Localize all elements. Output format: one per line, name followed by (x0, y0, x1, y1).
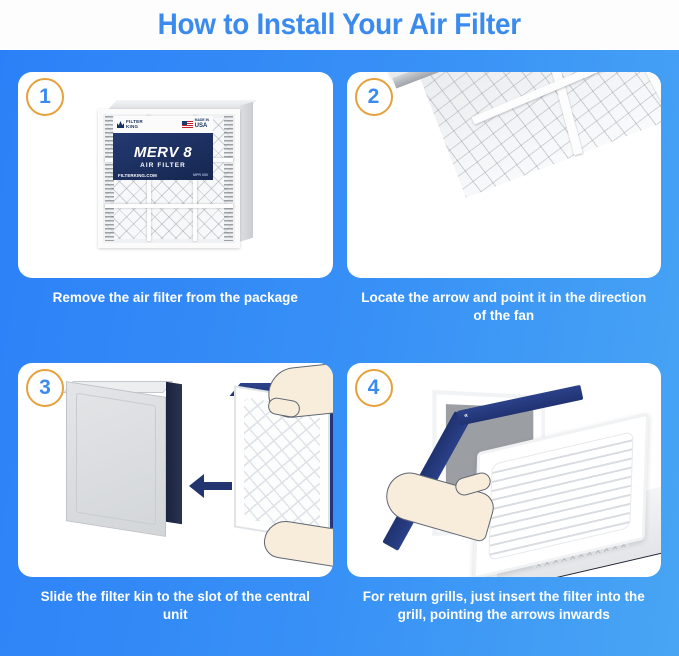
step-1-caption: Remove the air filter from the package (18, 278, 333, 307)
label-footer-strip: FILTERKING.COM MPR 650 (113, 173, 213, 178)
brand-name: FILTER KING (126, 120, 143, 130)
brand-line-2: KING (126, 125, 143, 130)
page-title: How to Install Your Air Filter (158, 8, 521, 42)
hand-lower (262, 518, 333, 570)
step-1-image-card: 1 (18, 72, 333, 278)
step-4-caption: For return grills, just insert the filte… (347, 577, 662, 624)
product-type-text: AIR FILTER (140, 162, 186, 169)
label-main-panel: MERV 8 AIR FILTER FILTERKING.COM MPR 650 (113, 133, 213, 180)
label-header-strip: FILTER KING MADE IN USA (113, 116, 213, 133)
merv8-filter-photo: FILTER KING MADE IN USA (98, 100, 253, 248)
step-2-number-badge: 2 (355, 78, 393, 116)
filter-front-face: FILTER KING MADE IN USA (98, 109, 240, 248)
website-text: FILTERKING.COM (118, 173, 157, 178)
step-1-artwork: FILTER KING MADE IN USA (18, 72, 333, 278)
step-card-1: 1 (18, 72, 333, 357)
infographic-root: How to Install Your Air Filter 1 (0, 0, 679, 656)
unit-inner-border (76, 393, 156, 526)
step-card-3: 3 (18, 363, 333, 648)
step-3-caption: Slide the filter kin to the slot of the … (18, 577, 333, 624)
step-2-image-card: 2 Ai (347, 72, 662, 278)
step-2-artwork: Air Filter AIRFLOW (347, 72, 662, 278)
filter-king-logo: FILTER KING (117, 120, 143, 130)
filter-corner-photo: Air Filter AIRFLOW (347, 72, 662, 278)
filter-side-bevel (239, 102, 253, 242)
filter-pleats-right (224, 116, 233, 241)
step-card-4: 4 « (347, 363, 662, 648)
header-band: How to Install Your Air Filter (0, 0, 679, 50)
mpr-rating-text: MPR 650 (193, 173, 208, 178)
step-card-2: 2 Ai (347, 72, 662, 357)
step-3-artwork (18, 363, 333, 577)
merv-rating: MERV 8 (134, 145, 192, 160)
arrow-marks: « (463, 412, 468, 420)
filter-rib-h2 (105, 204, 233, 208)
filter-mesh (244, 397, 320, 531)
crown-icon (117, 121, 124, 128)
steps-grid: 1 (0, 50, 679, 656)
step-1-number-badge: 1 (26, 78, 64, 116)
unit-front-face (66, 381, 166, 537)
unit-slot-opening (166, 382, 182, 525)
usa-flag-icon (182, 121, 193, 129)
step-2-caption: Locate the arrow and point it in the dir… (347, 278, 662, 325)
made-in-usa-mark: MADE IN USA (182, 119, 209, 129)
step-3-number-badge: 3 (26, 369, 64, 407)
step-4-image-card: 4 « (347, 363, 662, 577)
country-text: USA (195, 123, 209, 130)
step-3-image-card: 3 (18, 363, 333, 577)
step-4-artwork: « (347, 363, 662, 577)
grill-louvers (488, 431, 633, 561)
made-in-text: MADE IN (195, 118, 209, 122)
filter-product-label: FILTER KING MADE IN USA (113, 116, 213, 180)
filter-corner-body: Air Filter AIRFLOW (383, 72, 662, 250)
made-in-usa-text: MADE IN USA (195, 119, 209, 129)
central-unit-slot (66, 379, 184, 529)
slide-direction-arrow-icon (188, 473, 232, 499)
step-4-number-badge: 4 (355, 369, 393, 407)
